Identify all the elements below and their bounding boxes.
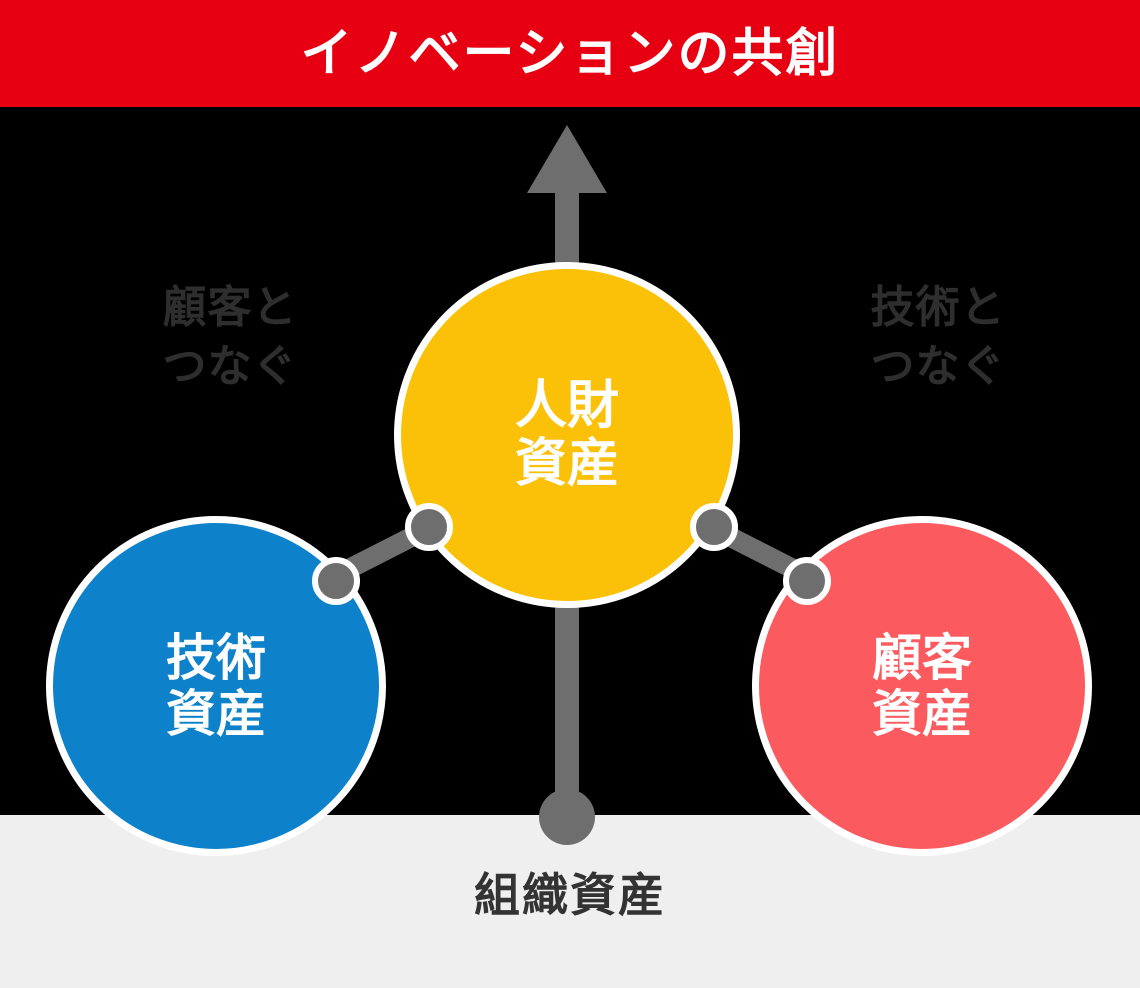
caption-left-line1: 顧客と [120, 278, 340, 337]
connector-knob-right-outer [783, 557, 831, 605]
caption-right-line1: 技術と [828, 278, 1048, 337]
connector-knob-left-outer [312, 557, 360, 605]
connector-knob-right-inner [690, 503, 738, 551]
node-left-line1: 技術 [166, 630, 266, 686]
infographic-canvas: イノベーションの共創 顧客と つなぐ 技術と つなぐ 技術 資産 顧客 資産 人… [0, 0, 1140, 988]
node-right-line1: 顧客 [872, 630, 972, 686]
node-left-line2: 資産 [166, 686, 266, 742]
node-human-capital-asset[interactable]: 人財 資産 [394, 262, 740, 608]
ground-label: 組織資産 [0, 872, 1140, 918]
node-center-line1: 人財 [515, 377, 619, 435]
node-center-line2: 資産 [515, 435, 619, 493]
banner-title: イノベーションの共創 [301, 28, 840, 80]
caption-left-line2: つなぐ [120, 337, 340, 396]
caption-right-line2: つなぐ [828, 337, 1048, 396]
caption-left: 顧客と つなぐ [120, 278, 340, 397]
node-right-line2: 資産 [872, 686, 972, 742]
header-banner: イノベーションの共創 [0, 0, 1140, 107]
upward-arrow-head-icon [527, 125, 607, 193]
connector-knob-left-inner [405, 503, 453, 551]
caption-right: 技術と つなぐ [828, 278, 1048, 397]
base-knob [539, 789, 595, 845]
